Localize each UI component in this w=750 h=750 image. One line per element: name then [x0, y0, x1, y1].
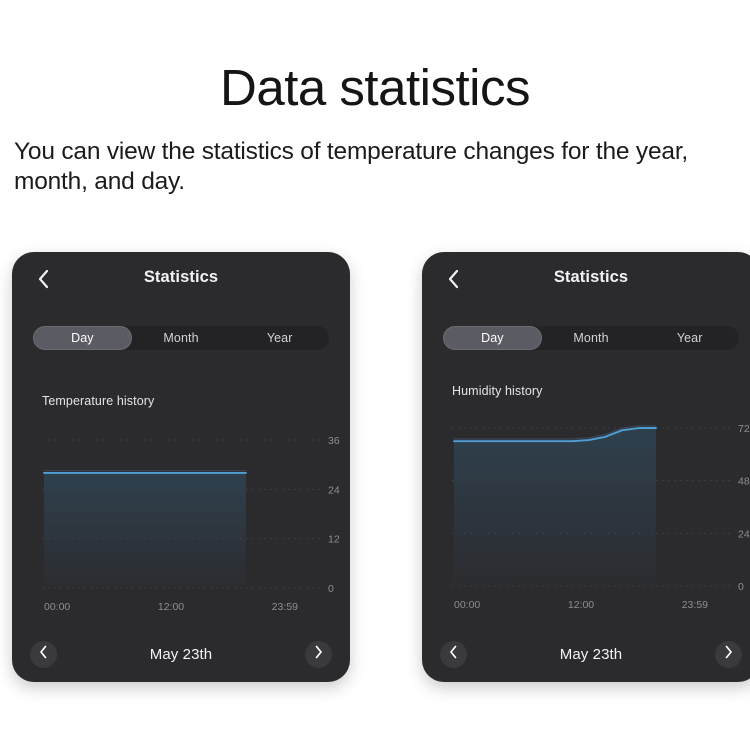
- svg-text:12:00: 12:00: [568, 599, 594, 611]
- chevron-left-icon: [39, 645, 48, 664]
- chevron-left-icon: [449, 645, 458, 664]
- phone-panels: Statistics Day Month Year Temperature hi…: [0, 252, 750, 692]
- app-topbar-humidity: Statistics: [422, 252, 750, 308]
- segment-day[interactable]: Day: [33, 326, 132, 350]
- svg-text:0: 0: [328, 583, 334, 595]
- svg-text:00:00: 00:00: [44, 601, 70, 613]
- svg-text:00:00: 00:00: [454, 599, 480, 611]
- chevron-right-icon: [724, 645, 733, 664]
- screen-title: Statistics: [422, 268, 750, 287]
- page-subtitle: You can view the statistics of temperatu…: [0, 113, 750, 197]
- date-nav-temperature: May 23th: [12, 626, 350, 682]
- chart-humidity: 724824000:0012:0023:59: [422, 416, 750, 616]
- next-day-button[interactable]: [715, 641, 742, 668]
- segment-year[interactable]: Year: [640, 326, 739, 350]
- period-segmented-control-temperature[interactable]: Day Month Year: [33, 326, 329, 350]
- prev-day-button[interactable]: [30, 641, 57, 668]
- chart-label-humidity: Humidity history: [452, 384, 543, 398]
- svg-text:72: 72: [738, 423, 750, 435]
- svg-text:0: 0: [738, 581, 744, 593]
- date-nav-humidity: May 23th: [422, 626, 750, 682]
- phone-panel-humidity: Statistics Day Month Year Humidity histo…: [422, 252, 750, 682]
- screen-title: Statistics: [12, 268, 350, 287]
- chart-temperature: 362412000:0012:0023:59: [12, 428, 350, 618]
- next-day-button[interactable]: [305, 641, 332, 668]
- period-segmented-control-humidity[interactable]: Day Month Year: [443, 326, 739, 350]
- svg-text:24: 24: [738, 528, 750, 540]
- segment-month[interactable]: Month: [132, 326, 231, 350]
- page-title: Data statistics: [0, 0, 750, 113]
- svg-text:23:59: 23:59: [272, 601, 298, 613]
- svg-text:23:59: 23:59: [682, 599, 708, 611]
- svg-text:24: 24: [328, 484, 340, 496]
- hero-section: Data statistics You can view the statist…: [0, 0, 750, 197]
- svg-text:48: 48: [738, 476, 750, 488]
- chart-label-temperature: Temperature history: [42, 394, 154, 408]
- svg-text:12: 12: [328, 534, 340, 546]
- svg-text:12:00: 12:00: [158, 601, 184, 613]
- svg-text:36: 36: [328, 435, 340, 447]
- prev-day-button[interactable]: [440, 641, 467, 668]
- app-topbar-temperature: Statistics: [12, 252, 350, 308]
- segment-month[interactable]: Month: [542, 326, 641, 350]
- current-date-label: May 23th: [467, 646, 715, 663]
- phone-panel-temperature: Statistics Day Month Year Temperature hi…: [12, 252, 350, 682]
- current-date-label: May 23th: [57, 646, 305, 663]
- segment-day[interactable]: Day: [443, 326, 542, 350]
- segment-year[interactable]: Year: [230, 326, 329, 350]
- chevron-right-icon: [314, 645, 323, 664]
